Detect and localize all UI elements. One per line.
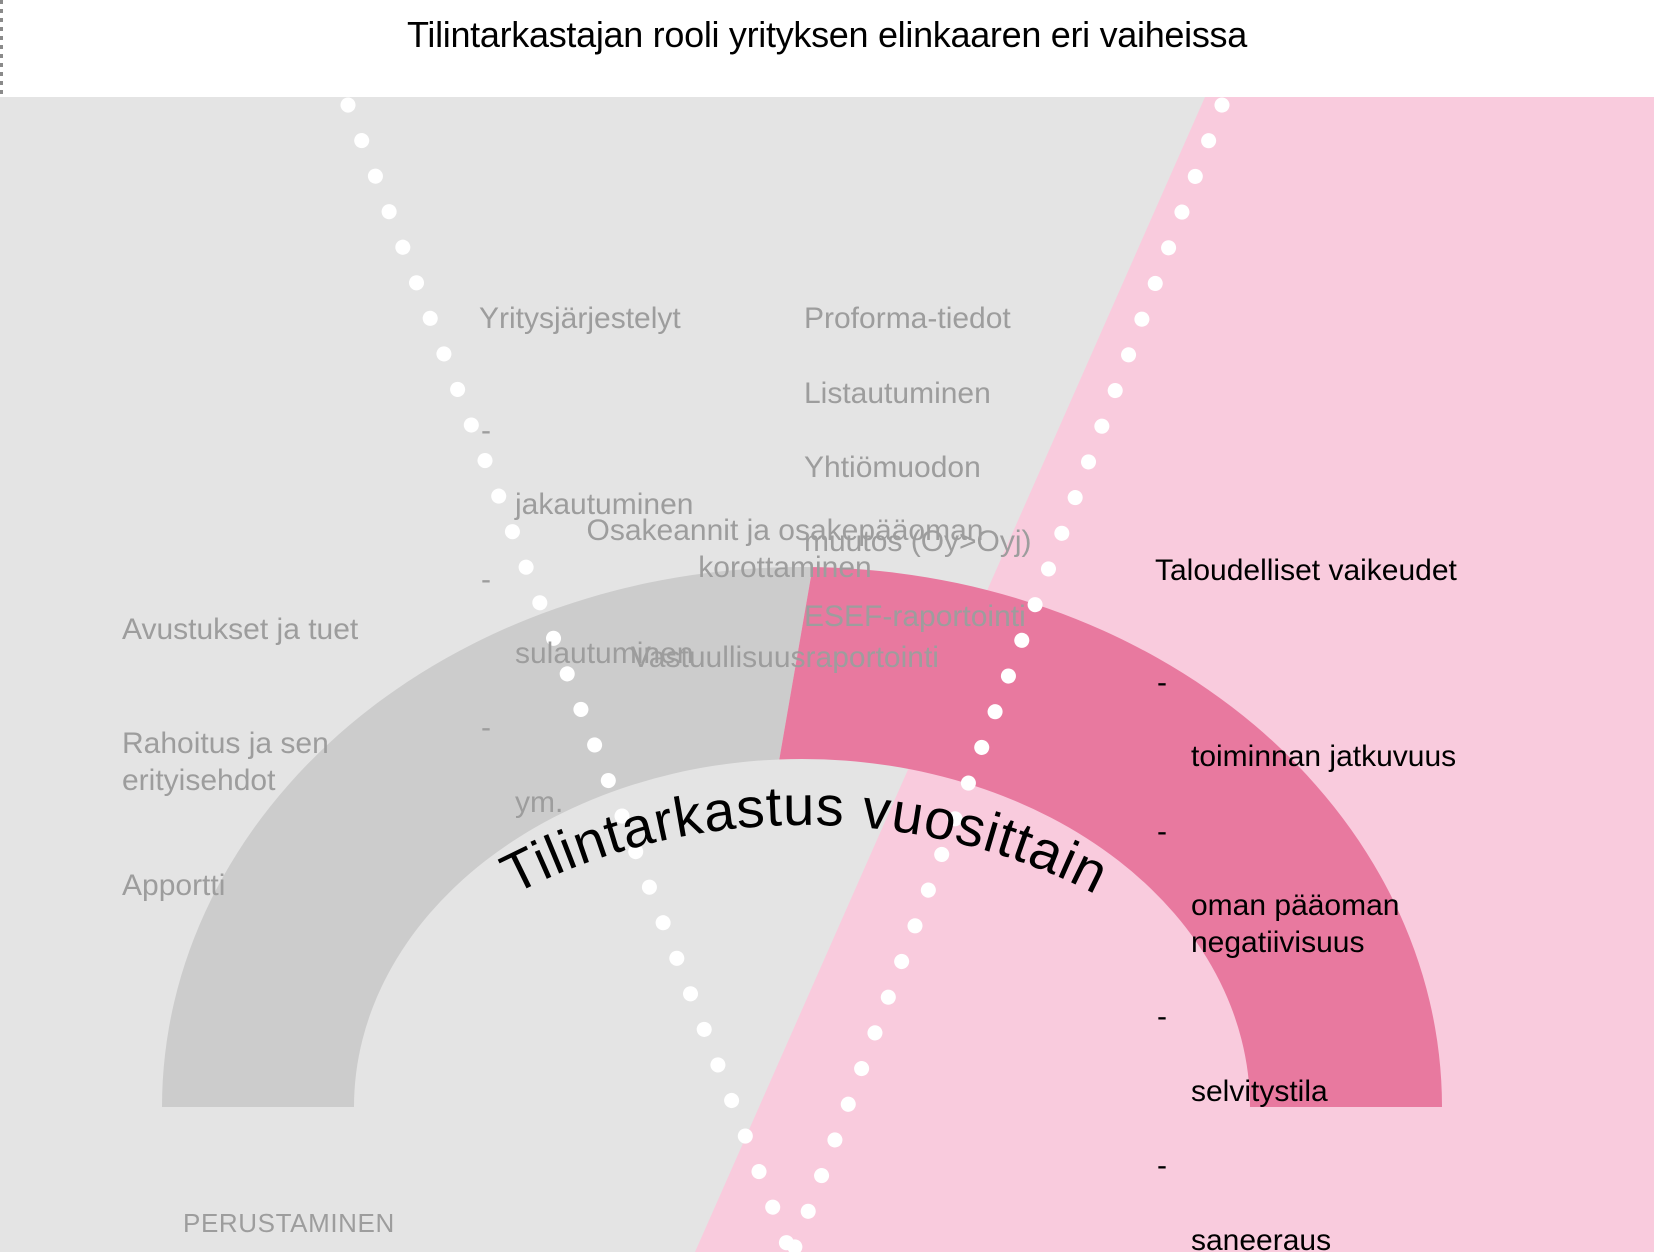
list-item: - saneeraus [1155, 1147, 1457, 1252]
list-item-label: selvitystila [1191, 1075, 1328, 1108]
dash-bullet-icon: - [481, 561, 491, 598]
list-item: - selvitystila [1155, 998, 1457, 1110]
list-item: - toiminnan jatkuvuus [1155, 664, 1457, 776]
list-item-label: toiminnan jatkuvuus [1191, 740, 1456, 773]
dash-bullet-icon: - [481, 412, 491, 449]
listautuminen-line: Proforma-tiedot [804, 300, 1032, 337]
list-item: - oman pääoman negatiivisuus [1155, 813, 1457, 962]
list-item-label: oman pääoman negatiivisuus [1191, 889, 1399, 959]
dash-bullet-icon: - [481, 709, 491, 746]
left-edge-dashed-border [0, 0, 3, 97]
listautuminen-line: ESEF-raportointi [804, 598, 1032, 635]
label-apportti: Apportti [122, 867, 225, 904]
dash-bullet-icon: - [1157, 813, 1167, 850]
taloudelliset-list: - toiminnan jatkuvuus - oman pääoman neg… [1155, 627, 1457, 1252]
label-avustukset-ja-tuet: Avustukset ja tuet [122, 611, 358, 648]
listautuminen-line: Listautuminen [804, 375, 1032, 412]
diagram-canvas: Tilintarkastus vuosittain Yritysjärjeste… [0, 97, 1654, 1252]
list-item: - jakautuminen [479, 412, 693, 524]
list-item: - ym. [479, 709, 693, 821]
yritysjarjestelyt-heading: Yritysjärjestelyt [479, 300, 693, 337]
listautuminen-line: Yhtiömuodon [804, 449, 1032, 486]
dash-bullet-icon: - [1157, 998, 1167, 1035]
yritysjarjestelyt-list: - jakautuminen - sulautuminen - ym. [479, 375, 693, 858]
label-perustaminen: PERUSTAMINEN [183, 1207, 395, 1239]
taloudelliset-heading: Taloudelliset vaikeudet [1155, 552, 1457, 589]
label-osakeannit: Osakeannit ja osakepääoman korottaminen [520, 512, 1050, 586]
page-title: Tilintarkastajan rooli yrityksen elinkaa… [0, 14, 1654, 56]
list-item-label: saneeraus [1191, 1224, 1331, 1252]
title-band: Tilintarkastajan rooli yrityksen elinkaa… [0, 0, 1654, 97]
label-rahoitus-ja-erityisehdot: Rahoitus ja sen erityisehdot [122, 725, 329, 799]
list-item-label: ym. [515, 786, 563, 819]
dash-bullet-icon: - [1157, 664, 1167, 701]
diagram-root: Tilintarkastajan rooli yrityksen elinkaa… [0, 0, 1654, 1252]
group-taloudelliset-vaikeudet: Taloudelliset vaikeudet - toiminnan jatk… [1155, 515, 1457, 1252]
dash-bullet-icon: - [1157, 1147, 1167, 1184]
group-listautuminen: Proforma-tiedot Listautuminen Yhtiömuodo… [804, 263, 1032, 672]
label-vastuullisuusraportointi: Vastuullisuusraportointi [520, 639, 1050, 676]
